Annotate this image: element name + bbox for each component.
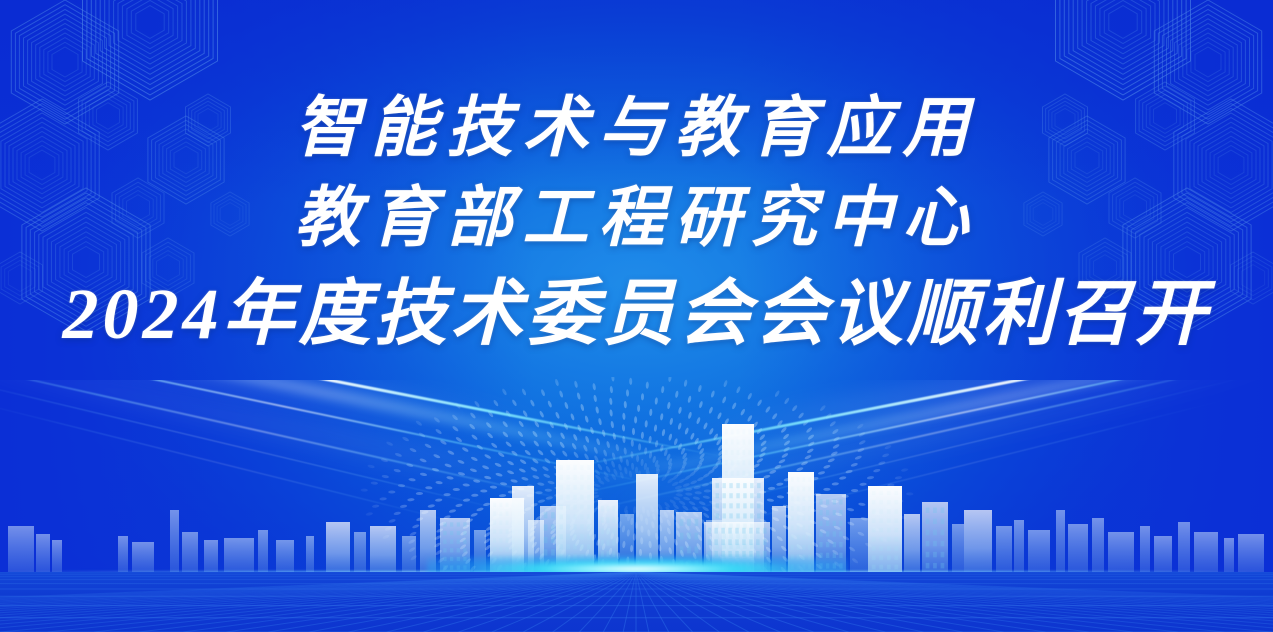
banner-image: 智能技术与教育应用 教育部工程研究中心 2024年度技术委员会会议顺利召开 [0,0,1273,632]
banner-title-block: 智能技术与教育应用 教育部工程研究中心 2024年度技术委员会会议顺利召开 [0,96,1273,350]
title-line-3: 2024年度技术委员会会议顺利召开 [0,278,1273,350]
title-line-1: 智能技术与教育应用 [0,96,1273,162]
title-line-2: 教育部工程研究中心 [0,186,1273,252]
perspective-grid-floor [0,572,1273,632]
city-skyline-icon [0,414,1273,574]
